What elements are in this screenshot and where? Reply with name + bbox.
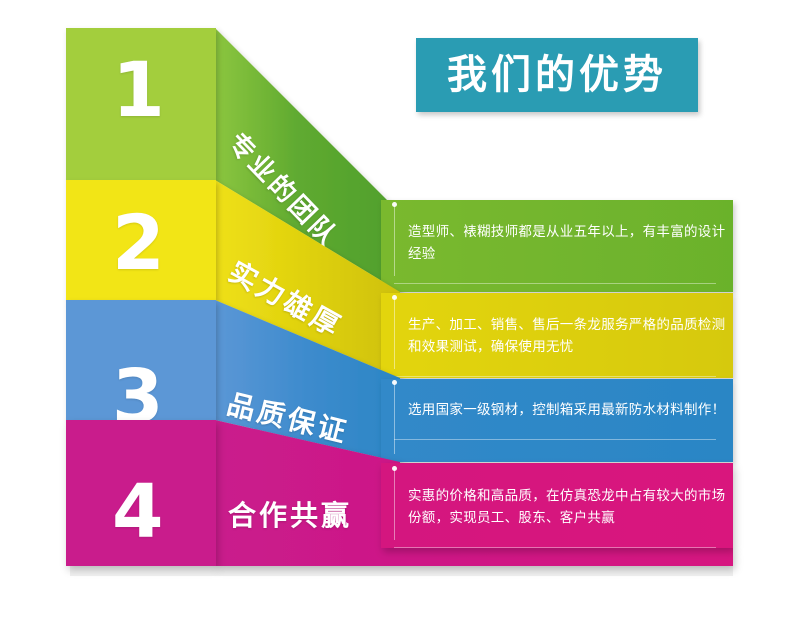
band-1-accent-dot <box>392 202 397 207</box>
band-4-accent-line <box>394 468 395 540</box>
band-4-number: 4 <box>112 475 164 549</box>
band-3-number: 3 <box>112 360 164 434</box>
band-1-accent-line <box>394 204 395 276</box>
band-2-underline <box>394 376 716 377</box>
band-1-label: 专业的团队 <box>221 124 348 254</box>
advantages-infographic: 1 专业的团队 造型师、裱糊技师都是从业五年以上，有丰富的设计经验 <box>0 0 800 622</box>
band-1-underline <box>394 283 716 284</box>
band-3-accent-dot <box>392 380 397 385</box>
band-4-description-box: 实惠的价格和高品质，在仿真恐龙中占有较大的市场份额，实现员工、股东、客户共赢 <box>408 484 738 530</box>
page-title-badge: 我们的优势 <box>416 38 698 112</box>
band-1-description-text: 造型师、裱糊技师都是从业五年以上，有丰富的设计经验 <box>408 220 738 266</box>
band-2-accent-line <box>394 297 395 369</box>
band-3-description-text: 选用国家一级钢材，控制箱采用最新防水材料制作！ <box>408 398 738 422</box>
page-title: 我们的优势 <box>447 55 667 95</box>
band-4-label: 合作共赢 <box>228 494 352 534</box>
band-2-accent-dot <box>392 295 397 300</box>
band-3-accent-line <box>394 382 395 454</box>
band-4-description-text: 实惠的价格和高品质，在仿真恐龙中占有较大的市场份额，实现员工、股东、客户共赢 <box>408 484 738 530</box>
band-3-underline <box>394 439 716 440</box>
band-1-description-box: 造型师、裱糊技师都是从业五年以上，有丰富的设计经验 <box>408 220 738 266</box>
band-2-label: 实力雄厚 <box>222 251 350 346</box>
band-3-label: 品质保证 <box>223 383 353 452</box>
band-1-number: 1 <box>112 52 165 128</box>
band-4-underline <box>394 547 716 548</box>
band-4-accent-dot <box>392 466 397 471</box>
band-2-description-text: 生产、加工、销售、售后一条龙服务严格的品质检测和效果测试，确保使用无忧 <box>408 313 738 359</box>
band-3-description-box: 选用国家一级钢材，控制箱采用最新防水材料制作！ <box>408 398 738 422</box>
band-2-description-box: 生产、加工、销售、售后一条龙服务严格的品质检测和效果测试，确保使用无忧 <box>408 313 738 359</box>
band-2-number: 2 <box>112 205 165 281</box>
